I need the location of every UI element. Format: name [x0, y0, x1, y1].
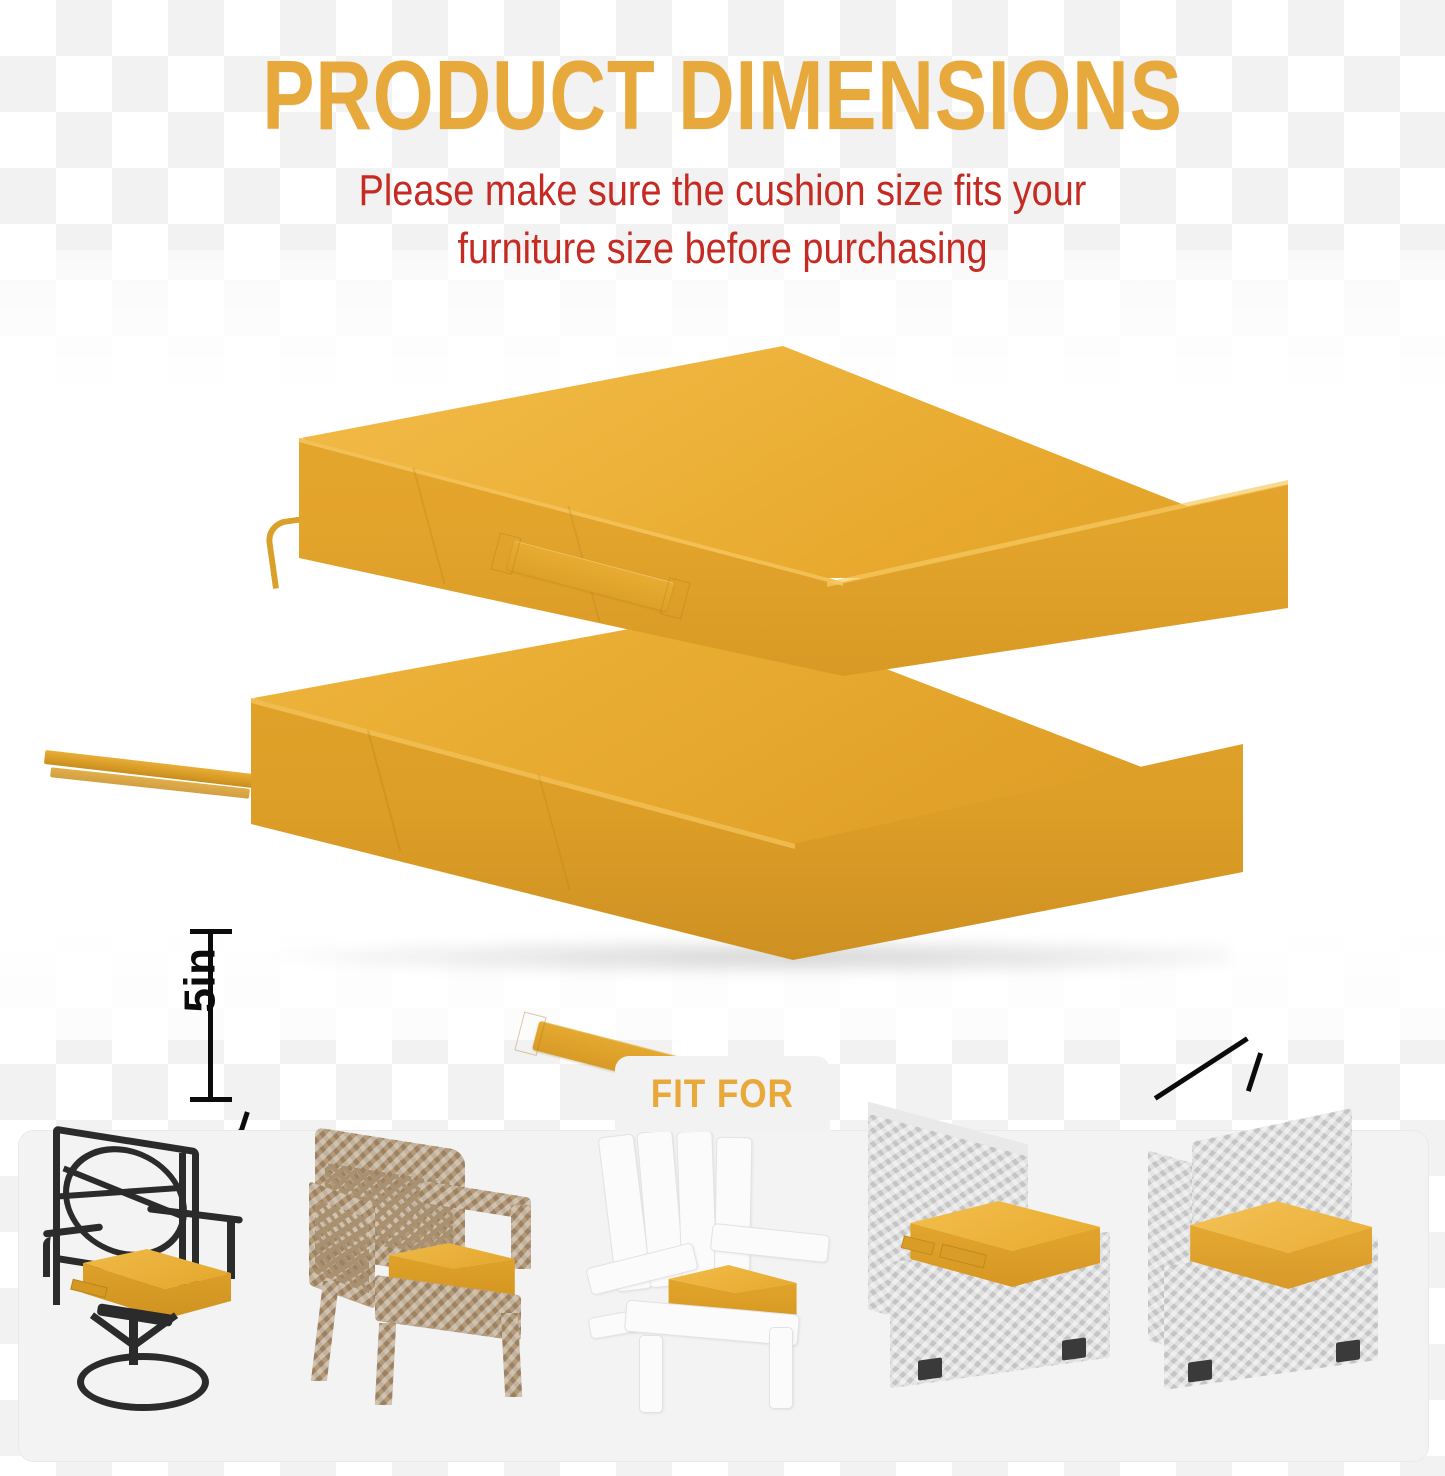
header: PRODUCT DIMENSIONS Please make sure the …: [0, 0, 1445, 278]
fit-for-item: [583, 1131, 865, 1461]
gray-wicker-armless-sectional-icon: [864, 1131, 1114, 1393]
height-dimension-cap-bottom: [190, 1097, 232, 1102]
fit-for-tab-label: FIT FOR: [651, 1072, 794, 1117]
fit-for-item: [301, 1131, 583, 1461]
subtitle-line-1: Please make sure the cushion size fits y…: [101, 162, 1344, 220]
brown-wicker-armchair-icon: [301, 1131, 545, 1417]
white-adirondack-chair-icon: [583, 1131, 823, 1421]
fit-for-item: [1146, 1131, 1428, 1461]
gray-wicker-corner-sectional-icon: [1146, 1131, 1396, 1393]
height-dimension-cap-top: [190, 929, 232, 934]
page-subtitle: Please make sure the cushion size fits y…: [101, 162, 1344, 278]
page-title: PRODUCT DIMENSIONS: [145, 46, 1301, 144]
dimension-annotations: 5in 24in 24in: [0, 300, 1445, 1060]
fit-for-item-list: [19, 1131, 1428, 1461]
height-dimension-label: 5in: [176, 947, 226, 1012]
fit-for-item: [864, 1131, 1146, 1461]
fit-for-item: [19, 1131, 301, 1461]
infographic-page: PRODUCT DIMENSIONS Please make sure the …: [0, 0, 1445, 1476]
depth-dimension-line-upper: [1154, 1036, 1249, 1100]
depth-dimension-tick-top: [1246, 1052, 1263, 1091]
fit-for-panel: [18, 1130, 1429, 1462]
subtitle-line-2: furniture size before purchasing: [101, 220, 1344, 278]
fit-for-tab: FIT FOR: [615, 1056, 830, 1132]
wrought-iron-swivel-chair-icon: [19, 1131, 249, 1421]
